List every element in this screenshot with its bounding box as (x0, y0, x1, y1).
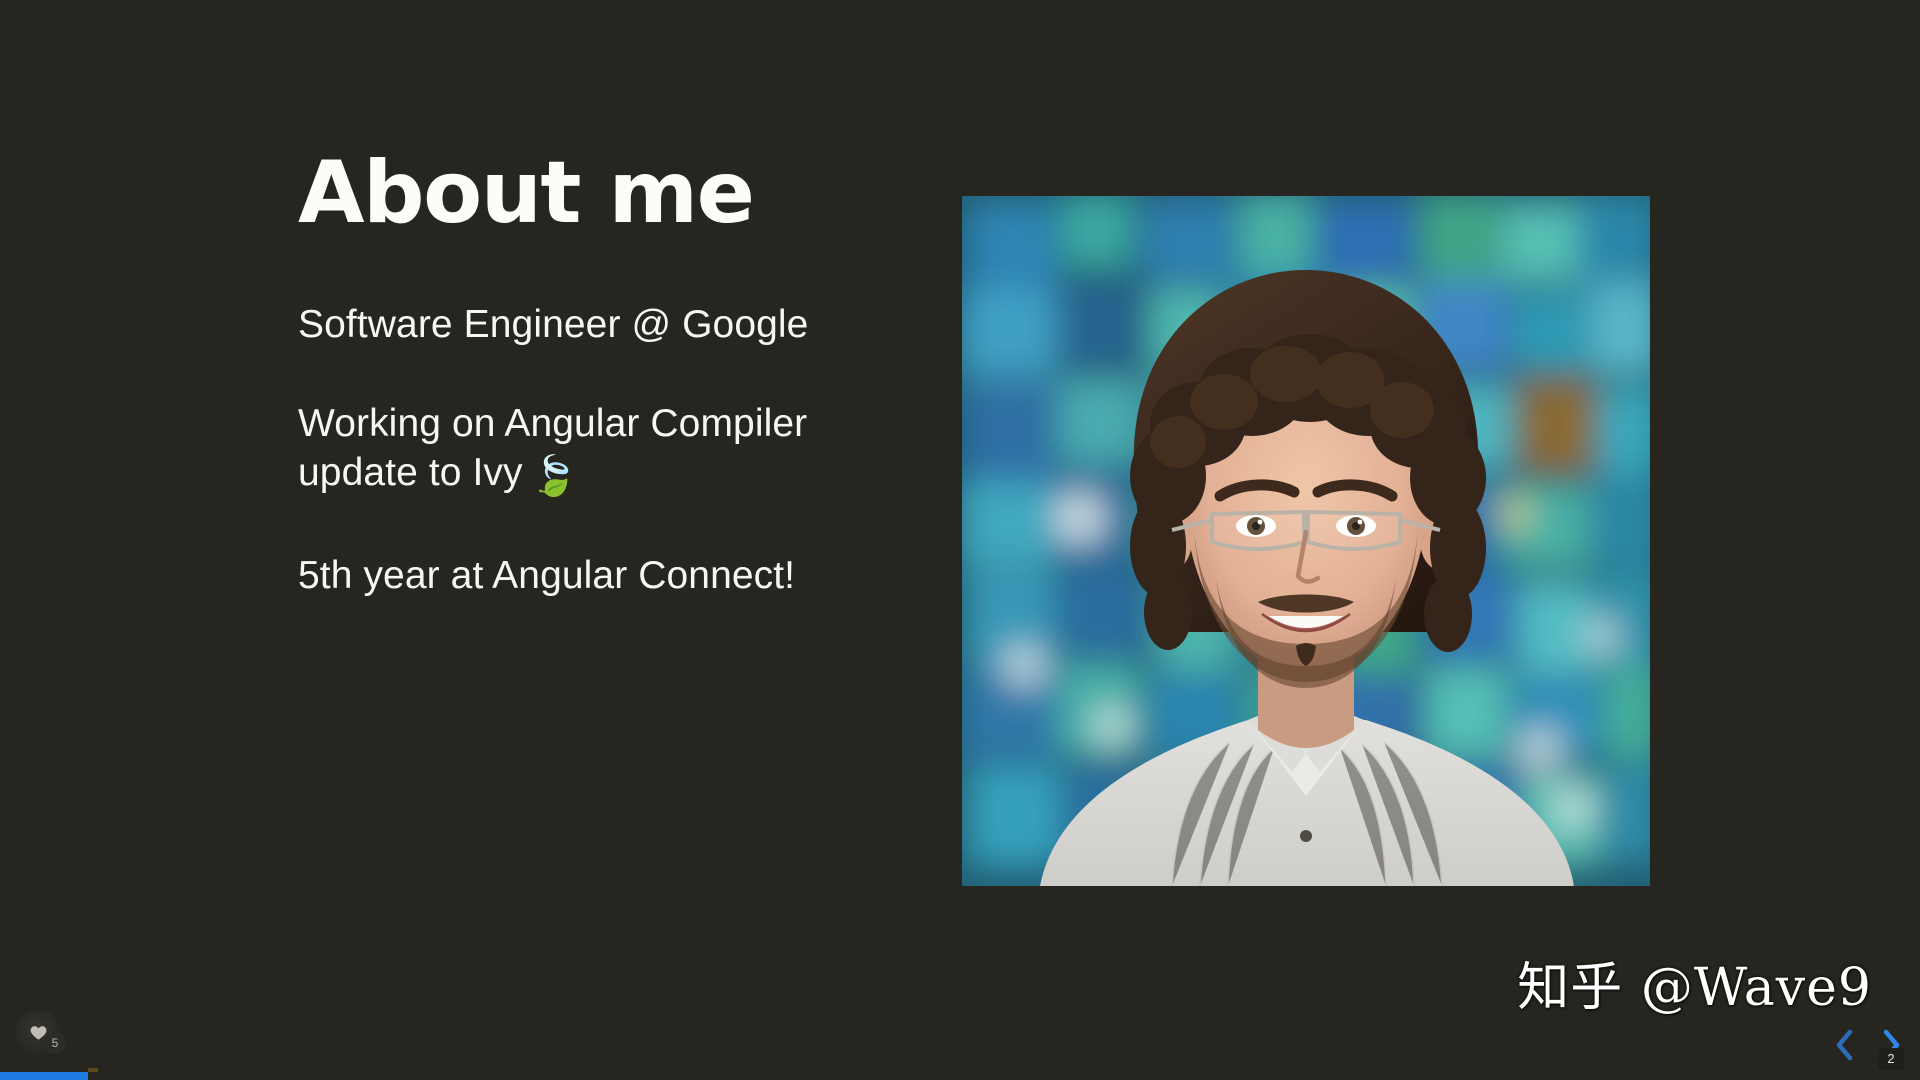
nav-controls: 2 (1828, 1024, 1908, 1066)
like-control[interactable]: 5 (16, 1010, 74, 1058)
bullet-text: 5th year at Angular Connect! (298, 554, 795, 597)
watermark-handle: @Wave9 (1641, 958, 1872, 1018)
progress-track[interactable] (0, 1072, 1920, 1080)
bullet-list: Software Engineer @ Google Working on An… (298, 300, 918, 601)
list-item: Software Engineer @ Google (298, 300, 918, 349)
page-title: About me (298, 150, 918, 238)
zhihu-watermark: 知乎 @Wave9 (1517, 945, 1872, 1020)
portrait-photo (962, 196, 1650, 886)
prev-slide-button[interactable] (1828, 1024, 1862, 1066)
portrait-illustration (962, 196, 1650, 886)
watermark-site: 知乎 (1517, 958, 1623, 1018)
like-count-badge: 5 (44, 1032, 66, 1054)
leaf-icon: 🍃 (530, 452, 579, 501)
slide-stage: About me Software Engineer @ Google Work… (0, 0, 1920, 1080)
chevron-left-icon (1833, 1028, 1857, 1062)
list-item: 5th year at Angular Connect! (298, 551, 918, 600)
page-number-badge: 2 (1878, 1048, 1904, 1070)
bullet-text: Software Engineer @ Google (298, 303, 808, 346)
list-item: Working on Angular Compiler update to Iv… (298, 399, 918, 501)
progress-fill (0, 1072, 88, 1080)
slide-text-column: About me Software Engineer @ Google Work… (298, 150, 918, 600)
